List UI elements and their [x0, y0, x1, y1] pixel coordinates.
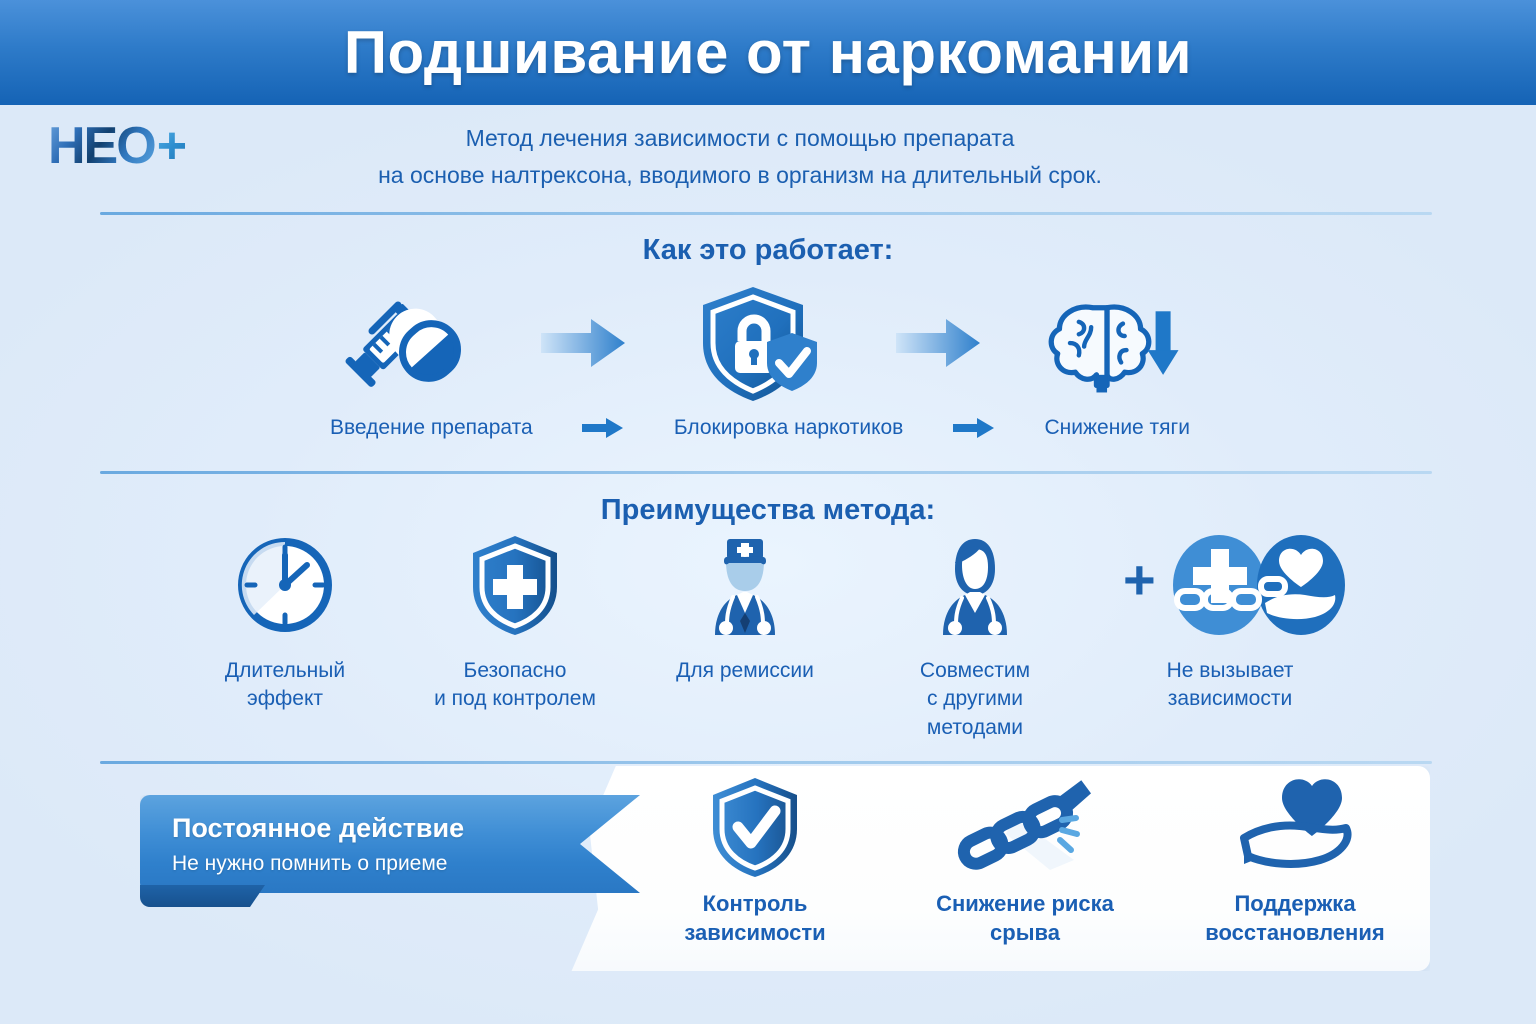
benefit-label-4-line2: с другими [920, 685, 1030, 713]
syringe-pill-icon [330, 278, 480, 408]
neo-plus-logo: НЕО + [48, 118, 238, 174]
benefit-label-1: Длительный эффект [185, 657, 385, 714]
infographic-root: Подшивание от наркомании НЕО + Метод леч… [0, 0, 1536, 1024]
shield-check-icon [709, 775, 801, 880]
how-it-works-labels-row: Введение препарата Блокировка наркотиков… [330, 412, 1190, 444]
benefit-item-long-effect: Длительный эффект [185, 535, 385, 714]
bottom-label-2: Снижение риска срыва [900, 890, 1150, 947]
clock-icon [235, 535, 335, 635]
arrow-right-small-icon-2 [951, 417, 997, 439]
benefit-label-4: Совместим с другими методами [920, 657, 1030, 742]
bottom-item-control: Контроль зависимости [630, 775, 880, 947]
benefit-item-compatible: Совместим с другими методами [875, 535, 1075, 742]
logo-text: НЕО [48, 120, 155, 172]
benefit-item-remission: Для ремиссии [645, 535, 845, 685]
logo-plus-icon: + [157, 120, 187, 172]
shield-lock-icon [685, 278, 835, 408]
benefit-label-2: Безопасно и под контролем [434, 657, 596, 714]
shield-cross-icon [469, 535, 561, 635]
how-it-works-icons-row [330, 278, 1190, 408]
cross-chain-heart-hand-icon: + [1115, 535, 1345, 635]
benefit-label-2-line1: Безопасно [434, 657, 596, 685]
brain-down-arrow-icon [1040, 278, 1190, 408]
how-step-label-3: Снижение тяги [1045, 416, 1190, 440]
bottom-label-1: Контроль зависимости [630, 890, 880, 947]
page-title: Подшивание от наркомании [344, 18, 1192, 87]
benefit-label-5-line2: зависимости [1167, 685, 1294, 713]
how-step-label-2: Блокировка наркотиков [674, 416, 904, 440]
divider-1 [100, 212, 1432, 215]
benefit-label-3: Для ремиссии [676, 657, 814, 685]
divider-3 [100, 761, 1432, 764]
svg-text:+: + [1123, 548, 1156, 611]
broken-chain-icon [950, 775, 1100, 880]
bottom-item-relapse: Снижение риска срыва [900, 775, 1150, 947]
benefit-label-2-line2: и под контролем [434, 685, 596, 713]
how-it-works-title: Как это работает: [0, 234, 1536, 267]
benefits-title: Преимущества метода: [0, 494, 1536, 527]
bottom-item-support: Поддержка восстановления [1170, 775, 1420, 947]
intro-text: Метод лечения зависимости с помощью преп… [300, 120, 1180, 195]
doctor-icon [695, 535, 795, 635]
benefit-label-5: Не вызывает зависимости [1167, 657, 1294, 714]
ribbon-title: Постоянное действие [172, 812, 572, 846]
benefit-label-5-line1: Не вызывает [1167, 657, 1294, 685]
ribbon-text-group: Постоянное действие Не нужно помнить о п… [172, 812, 572, 876]
divider-2 [100, 471, 1432, 474]
header-banner: Подшивание от наркомании [0, 0, 1536, 105]
intro-line-2: на основе налтрексона, вводимого в орган… [300, 157, 1180, 194]
nurse-icon [925, 535, 1025, 635]
hand-heart-icon [1230, 775, 1360, 880]
arrow-right-small-icon-1 [580, 417, 626, 439]
arrow-right-icon [535, 313, 630, 373]
benefit-item-no-addiction: + Не вызывает зависимости [1105, 535, 1355, 714]
arrow-right-icon-2 [890, 313, 985, 373]
how-step-label-1: Введение препарата [330, 416, 533, 440]
benefits-row: Длительный эффект [185, 535, 1355, 735]
ribbon-fold-shadow [140, 885, 265, 907]
bottom-label-3: Поддержка восстановления [1205, 890, 1384, 947]
benefit-item-safe: Безопасно и под контролем [415, 535, 615, 714]
bottom-label-3-line2: восстановления [1205, 919, 1384, 948]
ribbon-subtitle: Не нужно помнить о приеме [172, 852, 572, 876]
bottom-label-3-line1: Поддержка [1205, 890, 1384, 919]
bottom-icons-row: Контроль зависимости [620, 775, 1430, 970]
benefit-label-4-line1: Совместим [920, 657, 1030, 685]
benefit-label-4-line3: методами [920, 714, 1030, 742]
intro-line-1: Метод лечения зависимости с помощью преп… [300, 120, 1180, 157]
